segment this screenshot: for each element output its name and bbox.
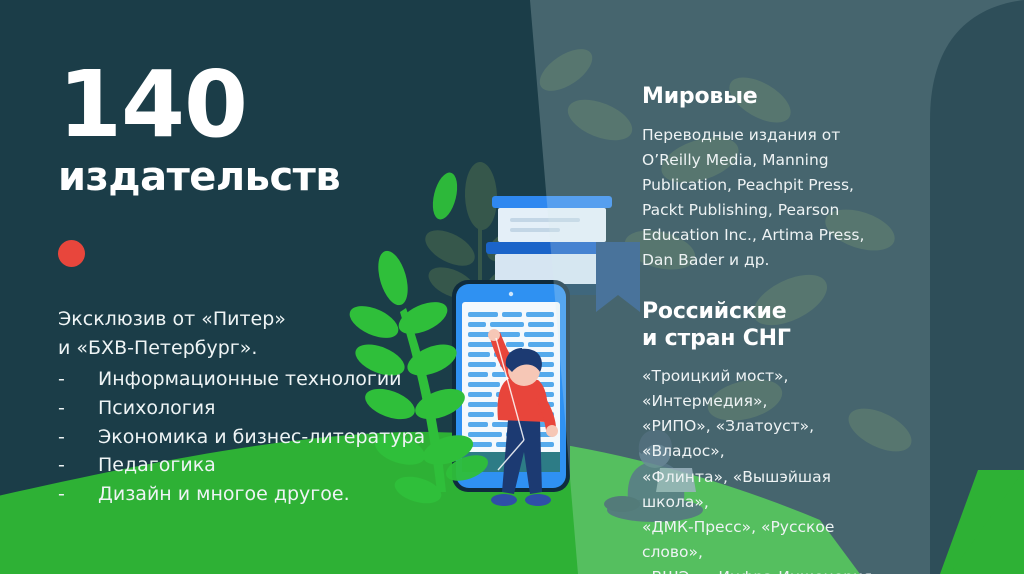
- intro-line-1: Эксклюзив от «Питер»: [58, 305, 458, 334]
- page-title-word: издательств: [58, 156, 458, 198]
- list-item: - Экономика и бизнес-литература: [58, 423, 458, 452]
- green-corner-shape: [940, 470, 1024, 574]
- list-item: - Дизайн и многое другое.: [58, 480, 458, 509]
- body-line: Publication, Peachpit Press,: [642, 173, 886, 198]
- slide-canvas: 140 издательств Эксклюзив от «Питер» и «…: [0, 0, 1024, 574]
- list-item: - Информационные технологии: [58, 365, 458, 394]
- body-line: «РИПО», «Златоуст», «Владос»,: [642, 414, 894, 464]
- heading-line-1: Российские: [642, 299, 892, 326]
- body-line: Dan Bader и др.: [642, 248, 886, 273]
- section-heading-world: Мировые: [642, 84, 892, 111]
- body-line: «Флинта», «Вышэйшая школа»,: [642, 465, 894, 515]
- bullet-dash-icon: -: [58, 394, 98, 423]
- heading-line-2: и стран СНГ: [642, 326, 892, 353]
- section-heading-russia: Российские и стран СНГ: [642, 299, 892, 353]
- page-title-number: 140: [58, 60, 458, 150]
- accent-dot: [58, 240, 85, 267]
- bullet-dash-icon: -: [58, 365, 98, 394]
- left-body-block: Эксклюзив от «Питер» и «БХВ-Петербург». …: [58, 305, 458, 509]
- list-item-label: Дизайн и многое другое.: [98, 480, 350, 509]
- right-column: Мировые Переводные издания от O’Reilly M…: [642, 84, 892, 574]
- body-line: «ВШЭ», «Инфра-Инженерия» и: [642, 565, 894, 574]
- list-item-label: Экономика и бизнес-литература: [98, 423, 425, 452]
- pointer-line-2: [498, 440, 524, 470]
- rounded-corner-shape: [930, 0, 1024, 574]
- body-line: Переводные издания от: [642, 123, 886, 148]
- body-line: «ДМК-Пресс», «Русское слово»,: [642, 515, 894, 565]
- list-item: - Психология: [58, 394, 458, 423]
- headline-block: 140 издательств: [58, 60, 458, 267]
- list-item: - Педагогика: [58, 451, 458, 480]
- stacked-books-icon: [480, 196, 620, 295]
- bullet-dash-icon: -: [58, 423, 98, 452]
- body-line: O’Reilly Media, Manning: [642, 148, 886, 173]
- list-item-label: Педагогика: [98, 451, 216, 480]
- body-line: Packt Publishing, Pearson: [642, 198, 886, 223]
- bookmark-icon: [596, 242, 640, 312]
- tablet-device-icon: [452, 280, 570, 492]
- topic-list: - Информационные технологии - Психология…: [58, 365, 458, 509]
- list-item-label: Психология: [98, 394, 215, 423]
- bullet-dash-icon: -: [58, 480, 98, 509]
- section-body-russia: «Троицкий мост», «Интермедия», «РИПО», «…: [642, 364, 894, 574]
- green-corner-shape-2: [950, 470, 1024, 574]
- intro-line-2: и «БХВ-Петербург».: [58, 334, 458, 363]
- standing-person-icon: [488, 329, 558, 506]
- body-line: «Троицкий мост», «Интермедия»,: [642, 364, 894, 414]
- list-item-label: Информационные технологии: [98, 365, 402, 394]
- bullet-dash-icon: -: [58, 451, 98, 480]
- section-body-world: Переводные издания от O’Reilly Media, Ma…: [642, 123, 886, 274]
- pointer-line: [496, 338, 524, 440]
- body-line: Education Inc., Artima Press,: [642, 223, 886, 248]
